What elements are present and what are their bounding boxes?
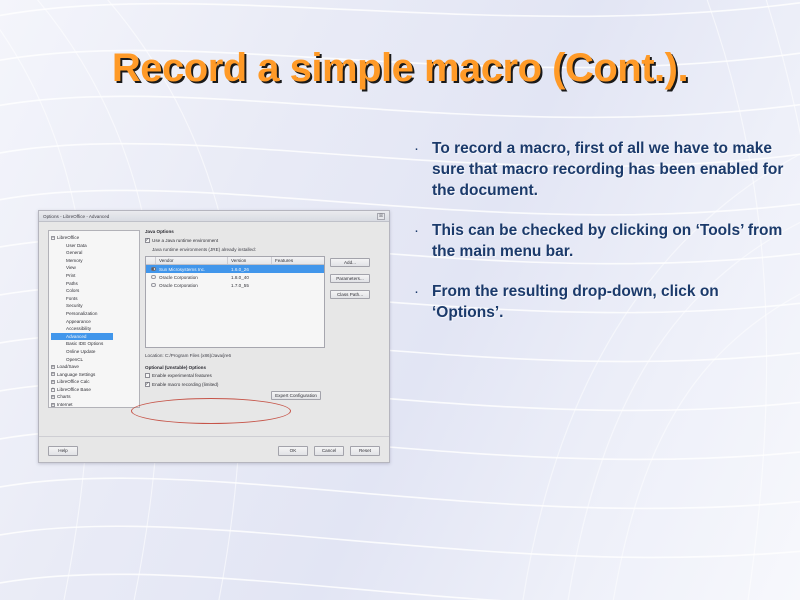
cell-features (272, 273, 324, 281)
column-header-vendor[interactable]: Vendor (156, 257, 228, 264)
tree-item-label: Load/Save (57, 363, 79, 371)
tree-item-advanced-selected[interactable]: Advanced (51, 333, 113, 341)
expert-configuration-row: Expert Configuration (145, 391, 383, 400)
bullet-text: To record a macro, first of all we have … (432, 138, 786, 201)
radio-icon[interactable] (151, 283, 156, 288)
cell-version: 1.7.0_55 (228, 281, 272, 289)
tree-item-user-data[interactable]: User Data (51, 242, 137, 250)
cell-version: 1.6.0_26 (228, 265, 272, 273)
expand-icon[interactable]: + (51, 372, 55, 376)
bullet-text: From the resulting drop-down, click on ‘… (432, 281, 786, 323)
expand-icon[interactable]: + (51, 395, 55, 399)
dialog-footer: Help OK Cancel Reset (39, 436, 389, 463)
cell-vendor: Oracle Corporation (156, 273, 228, 281)
add-button[interactable]: Add... (330, 258, 370, 267)
bullet-marker-icon: · (408, 138, 432, 159)
tree-item-appearance[interactable]: Appearance (51, 318, 137, 326)
radio-selected-icon[interactable] (151, 267, 156, 272)
expert-configuration-button[interactable]: Expert Configuration (271, 391, 321, 400)
options-tree[interactable]: − LibreOffice User Data General Memory V… (48, 230, 140, 408)
experimental-features-checkbox-row[interactable]: Enable experimental features (145, 373, 383, 378)
cell-features (272, 265, 324, 273)
list-item: · To record a macro, first of all we hav… (408, 138, 786, 201)
tree-item-label: Charts (57, 393, 71, 401)
column-header-select (146, 257, 156, 264)
optional-options-heading: Optional (Unstable) Options (145, 365, 383, 370)
row-radio[interactable] (146, 281, 156, 289)
cell-vendor: Oracle Corporation (156, 281, 228, 289)
bullet-text: This can be checked by clicking on ‘Tool… (432, 220, 786, 262)
tree-item-label: Internet (57, 401, 73, 408)
installed-jre-note: Java runtime environments (JRE) already … (152, 247, 383, 252)
slide-canvas: Record a simple macro (Cont.). · To reco… (0, 0, 800, 600)
column-header-features[interactable]: Features (272, 257, 324, 264)
tree-item-libreoffice-base[interactable]: + LibreOffice Base (51, 386, 137, 394)
tree-root-libreoffice[interactable]: − LibreOffice (51, 234, 137, 242)
table-row[interactable]: Oracle Corporation 1.8.0_40 (146, 273, 324, 281)
list-item: · From the resulting drop-down, click on… (408, 281, 786, 323)
tree-root-label: LibreOffice (57, 234, 79, 242)
parameters-button[interactable]: Parameters... (330, 274, 370, 283)
row-radio[interactable] (146, 265, 156, 273)
list-item: · This can be checked by clicking on ‘To… (408, 220, 786, 262)
expand-icon[interactable]: + (51, 365, 55, 369)
cell-features (272, 281, 324, 289)
java-options-panel: Java Options ✓ Use a Java runtime enviro… (145, 229, 383, 400)
table-row[interactable]: Sun Microsystems Inc. 1.6.0_26 (146, 265, 324, 273)
tree-item-print[interactable]: Print (51, 272, 137, 280)
tree-item-opencl[interactable]: OpenCL (51, 356, 137, 364)
checkbox-checked-icon[interactable]: ✓ (145, 238, 150, 243)
class-path-button[interactable]: Class Path... (330, 290, 370, 299)
dialog-title-bar: Options - LibreOffice - Advanced ☒ (39, 211, 389, 222)
options-dialog-screenshot: Options - LibreOffice - Advanced ☒ − Lib… (38, 210, 390, 463)
radio-icon[interactable] (151, 275, 156, 280)
tree-item-label: LibreOffice Base (57, 386, 91, 394)
cancel-button[interactable]: Cancel (314, 446, 344, 456)
tree-item-memory[interactable]: Memory (51, 257, 137, 265)
tree-item-paths[interactable]: Paths (51, 280, 137, 288)
tree-item-internet[interactable]: + Internet (51, 401, 137, 408)
cell-version: 1.8.0_40 (228, 273, 272, 281)
reset-button[interactable]: Reset (350, 446, 380, 456)
page-title: Record a simple macro (Cont.). (0, 46, 800, 91)
dialog-body: − LibreOffice User Data General Memory V… (39, 222, 389, 463)
checkbox-checked-icon[interactable]: ✓ (145, 382, 150, 387)
tree-item-colors[interactable]: Colors (51, 287, 137, 295)
dialog-title: Options - LibreOffice - Advanced (43, 214, 377, 219)
close-icon[interactable]: ☒ (377, 213, 385, 220)
tree-item-accessibility[interactable]: Accessibility (51, 325, 137, 333)
tree-item-label: LibreOffice Calc (57, 378, 90, 386)
tree-item-personalization[interactable]: Personalization (51, 310, 137, 318)
collapse-icon[interactable]: − (51, 236, 55, 240)
cell-vendor: Sun Microsystems Inc. (156, 265, 228, 273)
jre-location-text: Location: C:/Program Files (x86)/Java/jr… (145, 353, 383, 358)
expand-icon[interactable]: + (51, 380, 55, 384)
macro-recording-checkbox-row[interactable]: ✓ Enable macro recording (limited) (145, 382, 383, 387)
row-radio[interactable] (146, 273, 156, 281)
bullet-list: · To record a macro, first of all we hav… (408, 138, 786, 342)
use-jre-label: Use a Java runtime environment (152, 238, 218, 243)
column-header-version[interactable]: Version (228, 257, 272, 264)
checkbox-icon[interactable] (145, 373, 150, 378)
macro-recording-label: Enable macro recording (limited) (152, 382, 218, 387)
bullet-marker-icon: · (408, 220, 432, 241)
tree-item-basic-ide-options[interactable]: Basic IDE Options (51, 340, 137, 348)
tree-item-fonts[interactable]: Fonts (51, 295, 137, 303)
expand-icon[interactable]: + (51, 403, 55, 407)
tree-item-online-update[interactable]: Online Update (51, 348, 137, 356)
jre-table[interactable]: Vendor Version Features Sun Microsystems… (145, 256, 325, 348)
ok-button[interactable]: OK (278, 446, 308, 456)
table-header-row: Vendor Version Features (146, 257, 324, 265)
bullet-marker-icon: · (408, 281, 432, 302)
help-button[interactable]: Help (48, 446, 78, 456)
tree-item-libreoffice-calc[interactable]: + LibreOffice Calc (51, 378, 137, 386)
use-jre-checkbox-row[interactable]: ✓ Use a Java runtime environment (145, 238, 383, 243)
tree-item-view[interactable]: View (51, 264, 137, 272)
experimental-features-label: Enable experimental features (152, 373, 212, 378)
table-row[interactable]: Oracle Corporation 1.7.0_55 (146, 281, 324, 289)
tree-item-label: Language Settings (57, 371, 95, 379)
tree-item-language-settings[interactable]: + Language Settings (51, 371, 137, 379)
tree-item-load-save[interactable]: + Load/Save (51, 363, 137, 371)
tree-item-security[interactable]: Security (51, 302, 137, 310)
tree-item-charts[interactable]: + Charts (51, 393, 137, 401)
expand-icon[interactable]: + (51, 388, 55, 392)
jre-side-buttons: Add... Parameters... Class Path... (330, 256, 370, 348)
tree-item-general[interactable]: General (51, 249, 137, 257)
java-options-heading: Java Options (145, 229, 383, 234)
jre-section: Vendor Version Features Sun Microsystems… (145, 256, 383, 348)
